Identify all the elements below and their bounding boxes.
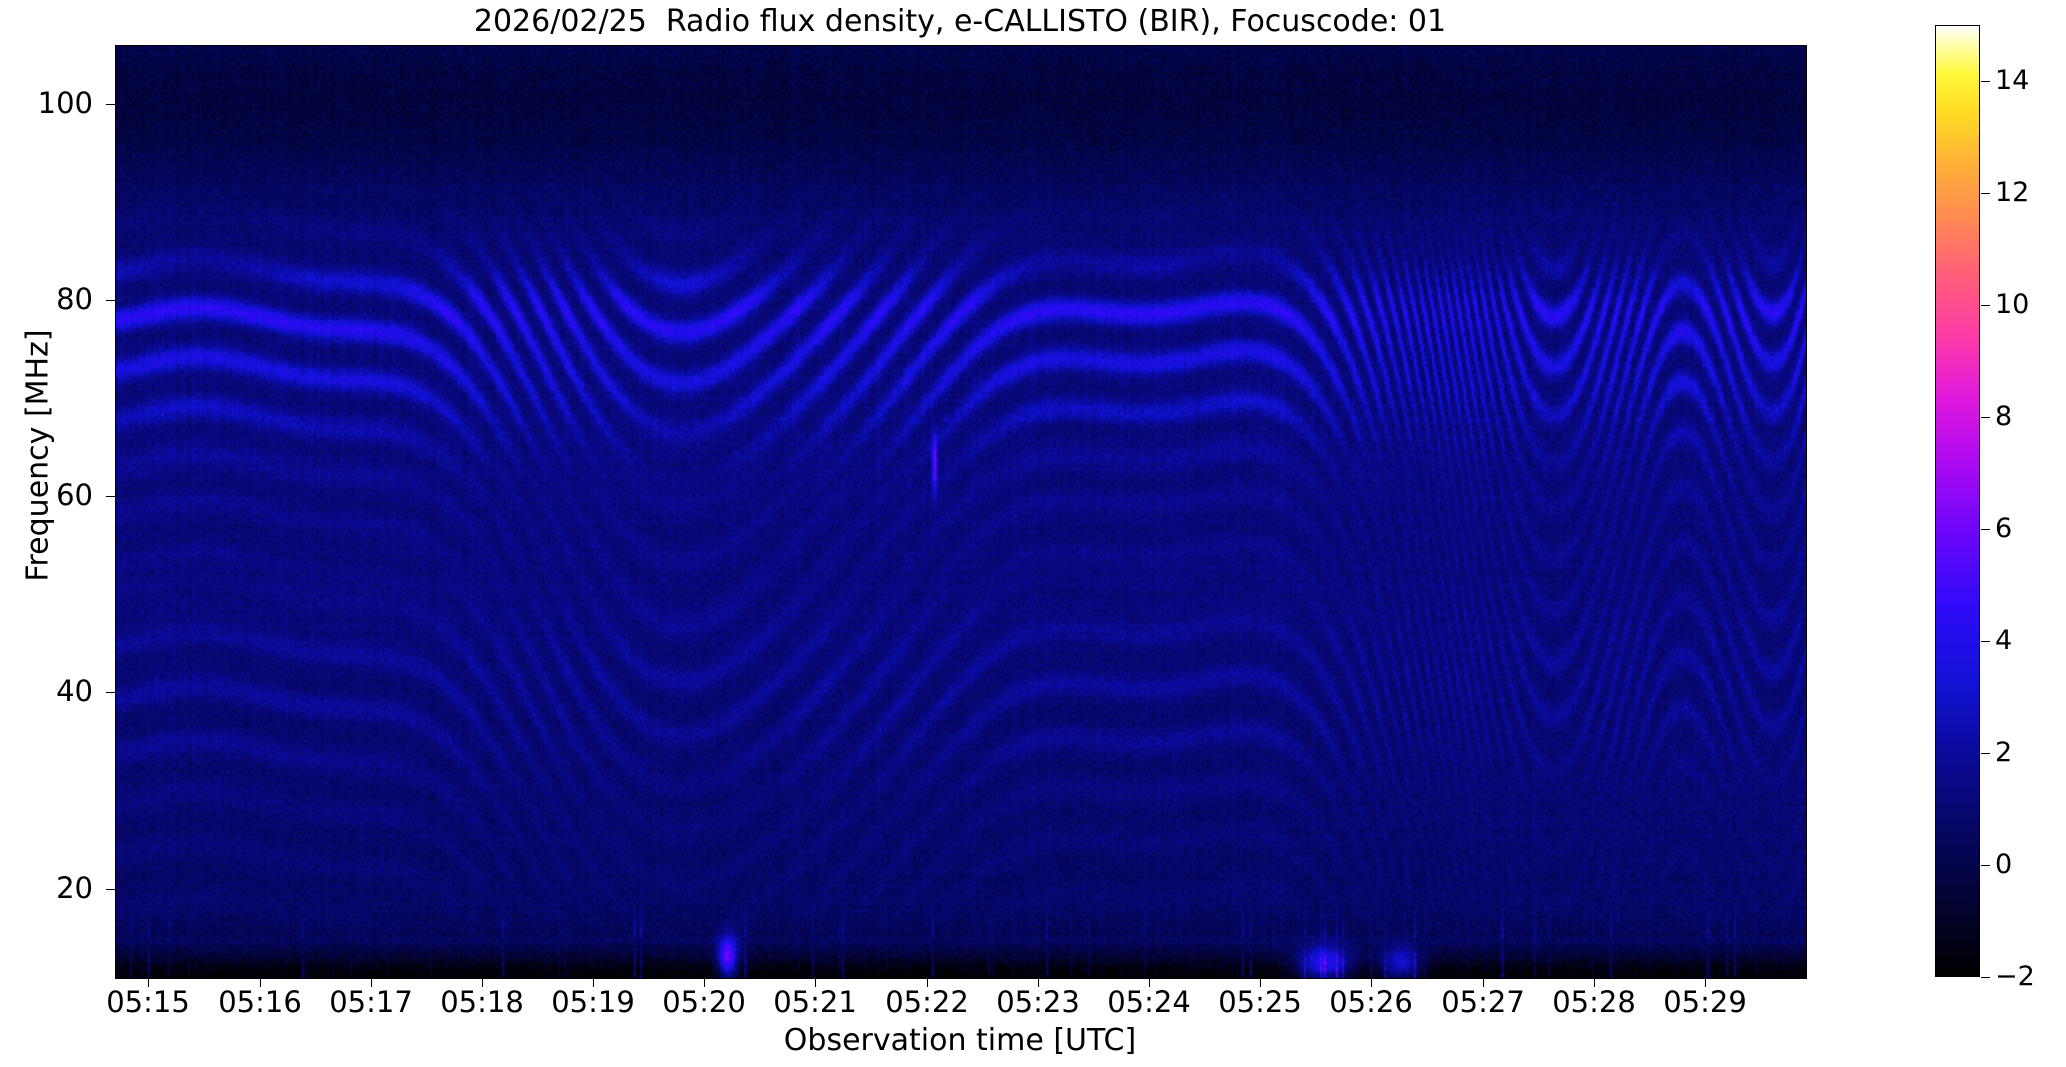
- x-tick-mark: [1038, 978, 1039, 987]
- x-tick-mark: [1371, 978, 1372, 987]
- x-tick-mark: [593, 978, 594, 987]
- colorbar[interactable]: 14121086420−2: [1935, 25, 1980, 977]
- spectrogram-plot-area[interactable]: [115, 45, 1807, 979]
- x-tick-label: 05:16: [180, 988, 340, 1017]
- colorbar-tick-mark: [1981, 193, 1990, 194]
- colorbar-tick-mark: [1981, 417, 1990, 418]
- x-tick-label: 05:21: [735, 988, 895, 1017]
- x-tick-mark: [927, 978, 928, 987]
- x-tick-mark: [148, 978, 149, 987]
- x-tick-label: 05:24: [1069, 988, 1229, 1017]
- x-tick-label: 05:26: [1291, 988, 1451, 1017]
- page-title: 2026/02/25 Radio flux density, e-CALLIST…: [0, 4, 1920, 39]
- colorbar-tick-mark: [1981, 81, 1990, 82]
- x-tick-mark: [1705, 978, 1706, 987]
- colorbar-tick-label: 14: [1995, 67, 2055, 94]
- colorbar-tick-mark: [1981, 977, 1990, 978]
- x-tick-mark: [371, 978, 372, 987]
- y-tick-mark: [106, 496, 115, 497]
- y-tick-label: 20: [23, 874, 93, 903]
- y-tick-mark: [106, 300, 115, 301]
- y-tick-mark: [106, 889, 115, 890]
- colorbar-tick-mark: [1981, 753, 1990, 754]
- x-tick-label: 05:28: [1514, 988, 1674, 1017]
- y-tick-mark: [106, 104, 115, 105]
- x-tick-mark: [1594, 978, 1595, 987]
- y-tick-label: 60: [23, 481, 93, 510]
- x-tick-mark: [1149, 978, 1150, 987]
- x-tick-mark: [815, 978, 816, 987]
- colorbar-tick-label: 0: [1995, 851, 2055, 878]
- y-tick-label: 100: [23, 89, 93, 118]
- x-tick-label: 05:25: [1180, 988, 1340, 1017]
- x-tick-label: 05:22: [847, 988, 1007, 1017]
- y-tick-mark: [106, 692, 115, 693]
- y-axis: Frequency [MHz]: [0, 0, 115, 1067]
- colorbar-tick-label: −2: [1995, 963, 2055, 990]
- colorbar-tick-mark: [1981, 305, 1990, 306]
- x-tick-mark: [704, 978, 705, 987]
- x-tick-label: 05:23: [958, 988, 1118, 1017]
- x-tick-label: 05:17: [291, 988, 451, 1017]
- x-tick-label: 05:27: [1403, 988, 1563, 1017]
- spectrogram-heatmap: [116, 46, 1806, 978]
- colorbar-tick-label: 10: [1995, 291, 2055, 318]
- colorbar-tick-mark: [1981, 865, 1990, 866]
- x-axis-label: Observation time [UTC]: [115, 1023, 1805, 1058]
- y-tick-label: 40: [23, 677, 93, 706]
- colorbar-tick-label: 12: [1995, 179, 2055, 206]
- colorbar-gradient: [1935, 25, 1980, 977]
- colorbar-tick-label: 6: [1995, 515, 2055, 542]
- x-tick-label: 05:18: [402, 988, 562, 1017]
- colorbar-tick-label: 2: [1995, 739, 2055, 766]
- colorbar-tick-label: 8: [1995, 403, 2055, 430]
- x-tick-mark: [1260, 978, 1261, 987]
- colorbar-tick-mark: [1981, 641, 1990, 642]
- x-tick-mark: [482, 978, 483, 987]
- y-tick-label: 80: [23, 285, 93, 314]
- x-tick-label: 05:20: [624, 988, 784, 1017]
- x-tick-mark: [260, 978, 261, 987]
- x-tick-label: 05:19: [513, 988, 673, 1017]
- x-tick-mark: [1483, 978, 1484, 987]
- colorbar-tick-mark: [1981, 529, 1990, 530]
- x-tick-label: 05:29: [1625, 988, 1785, 1017]
- colorbar-tick-label: 4: [1995, 627, 2055, 654]
